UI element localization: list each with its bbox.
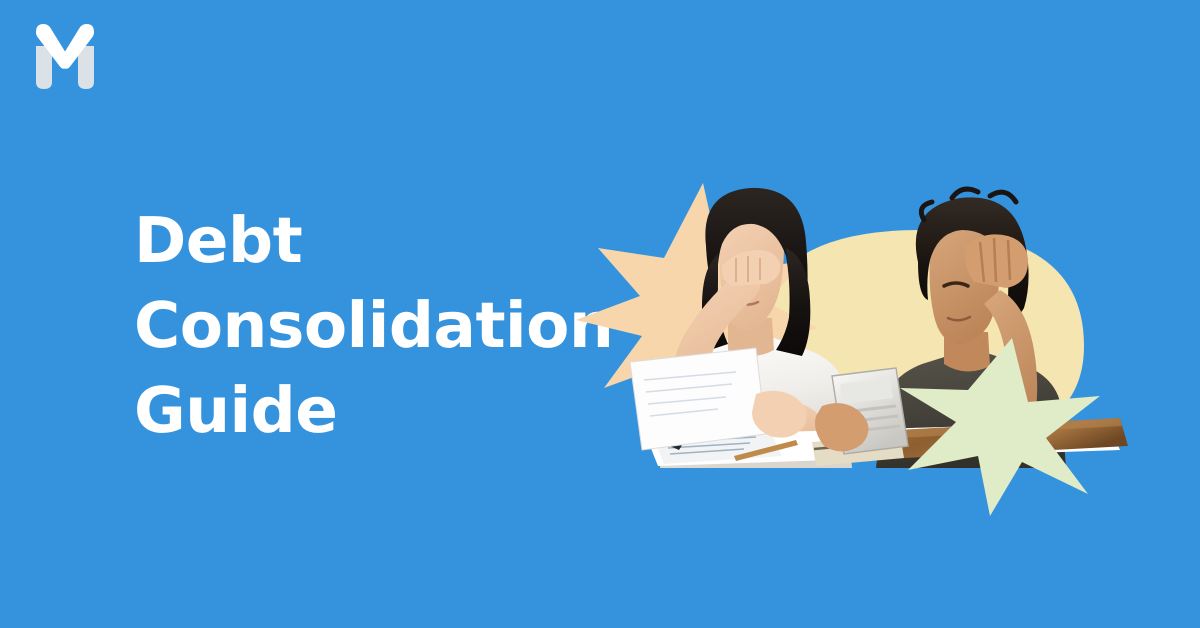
moneymax-m-logo-icon — [26, 20, 104, 90]
hero-illustration — [560, 150, 1200, 520]
star-green-decoration — [560, 150, 1200, 520]
page-title: Debt Consolidation Guide — [134, 198, 604, 453]
banner-root: Debt Consolidation Guide — [0, 0, 1200, 628]
star-green-shape — [900, 338, 1100, 516]
brand-logo[interactable] — [26, 20, 104, 90]
